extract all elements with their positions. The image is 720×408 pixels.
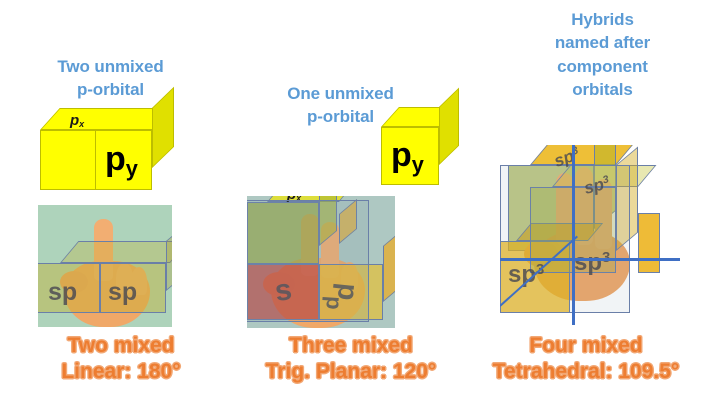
hybrid-box-top-face xyxy=(60,241,172,263)
photo-panel-right: sp3 sp3 sp3 sp3 xyxy=(500,145,680,325)
cube-side-face xyxy=(439,88,459,165)
hybrid-box-outline xyxy=(247,200,369,322)
hybrid-label-sp3-lower-right: sp3 xyxy=(574,251,610,275)
hybrid-label-sp-1: sp xyxy=(48,280,77,305)
photo-panel-middle: px s p p xyxy=(247,196,395,328)
photo-panel-left: sp sp xyxy=(38,205,172,327)
cube-divider xyxy=(95,130,96,190)
orbital-label-py: py xyxy=(105,142,138,180)
heading-right-panel: Hybrids named after component orbitals xyxy=(505,8,700,102)
hybrid-label-sp-2: sp xyxy=(108,280,137,305)
axis-vertical xyxy=(572,145,575,325)
axis-horizontal xyxy=(500,258,680,261)
orbital-label-py: py xyxy=(391,138,424,176)
hybrid-cube-right-slab xyxy=(638,213,660,273)
heading-left-panel: Two unmixed p-orbital xyxy=(8,55,213,102)
orbital-label-px: px xyxy=(70,113,84,129)
unmixed-orbital-block-middle: py xyxy=(381,127,439,185)
caption-right-panel: Four mixed Tetrahedral: 109.5° xyxy=(452,333,720,384)
unmixed-orbital-block-left: px py xyxy=(40,130,152,190)
